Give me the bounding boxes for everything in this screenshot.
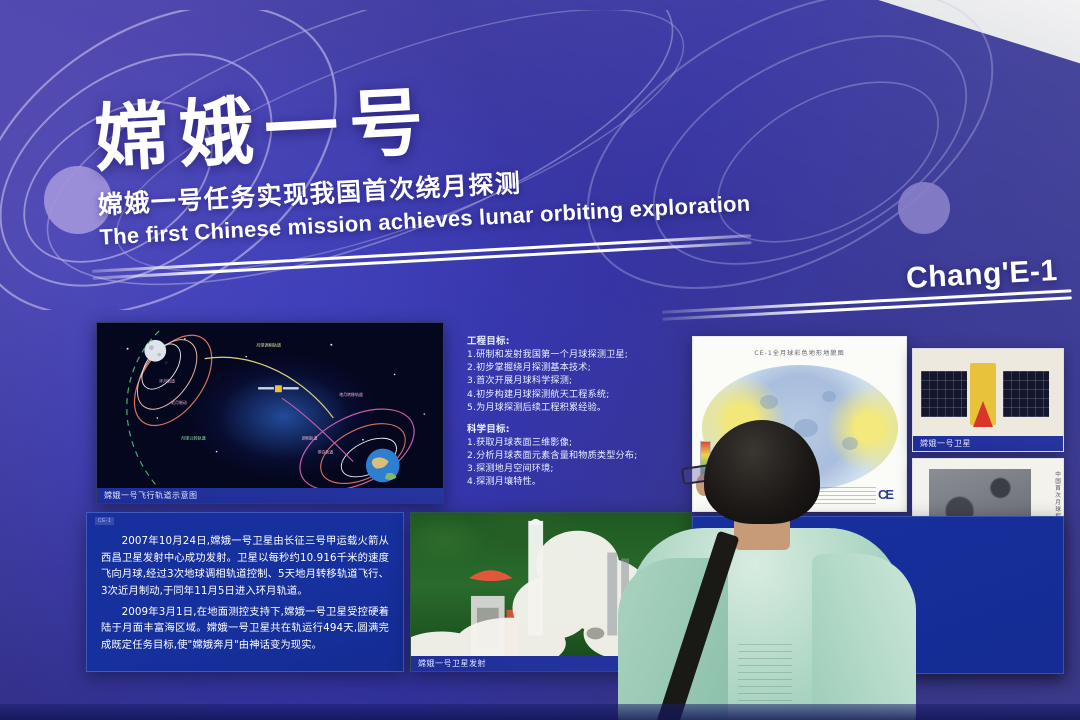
visitor-shirt-print bbox=[738, 644, 792, 702]
orbit-diagram-panel: 月球公转轨道 月球调相轨道 地月转移轨道 环月轨道 近月制动 调相轨道 停泊轨道… bbox=[96, 322, 444, 504]
description-paragraph: 2009年3月1日,在地面测控支持下,嫦娥一号卫星受控硬着陆于月面丰富海区域。嫦… bbox=[101, 604, 389, 654]
engineering-goal-item: 3.首次开展月球科学探测; bbox=[467, 375, 681, 388]
exhibition-photo: 嫦娥一号 嫦娥一号任务实现我国首次绕月探测 The first Chinese … bbox=[0, 0, 1080, 720]
engineering-goal-item: 4.初步构建月球探测航天工程系统; bbox=[467, 389, 681, 402]
satellite-photo-caption: 嫦娥一号卫星 bbox=[913, 436, 1063, 451]
satellite-photo-panel: 嫦娥一号卫星 bbox=[912, 348, 1064, 452]
solar-panel-right bbox=[1003, 371, 1049, 417]
engineering-goal-item: 1.研制和发射我国第一个月球探测卫星; bbox=[467, 349, 681, 362]
orbit-label-earth-transfer: 地月转移轨道 bbox=[339, 392, 363, 397]
floor-strip bbox=[0, 704, 1080, 720]
orbit-label-moon-path: 月球公转轨道 bbox=[181, 435, 206, 441]
orbit-label-park: 停泊轨道 bbox=[317, 450, 333, 455]
visitor-shoulder-right bbox=[812, 554, 916, 720]
orbit-diagram-graphic: 月球公转轨道 月球调相轨道 地月转移轨道 环月轨道 近月制动 调相轨道 停泊轨道 bbox=[97, 323, 443, 503]
orbit-label-transfer: 月球调相轨道 bbox=[256, 342, 281, 348]
visitor-hair bbox=[704, 420, 820, 524]
orbit-label-moon-orbit: 环月轨道 bbox=[159, 378, 175, 383]
map-crater bbox=[822, 391, 836, 402]
panel-tag: CE-1 bbox=[95, 517, 114, 525]
orbit-panel-caption: 嫦娥一号飞行轨道示意图 bbox=[97, 488, 443, 503]
mission-description-panel: CE-1 2007年10月24日,嫦娥一号卫星由长征三号甲运载火箭从西昌卫星发射… bbox=[86, 512, 404, 672]
orbit-label-phase: 调相轨道 bbox=[302, 436, 318, 441]
description-paragraph: 2007年10月24日,嫦娥一号卫星由长征三号甲运载火箭从西昌卫星发射中心成功发… bbox=[101, 533, 389, 600]
engineering-goal-item: 2.初步掌握绕月探测基本技术; bbox=[467, 362, 681, 375]
visitor-person bbox=[600, 408, 930, 720]
lunar-map-title: CE-1全月球彩色地形地貌图 bbox=[693, 348, 906, 357]
engineering-goals-heading: 工程目标: bbox=[467, 333, 681, 347]
map-crater bbox=[760, 395, 778, 409]
orbit-label-moon-brake: 近月制动 bbox=[171, 400, 187, 405]
